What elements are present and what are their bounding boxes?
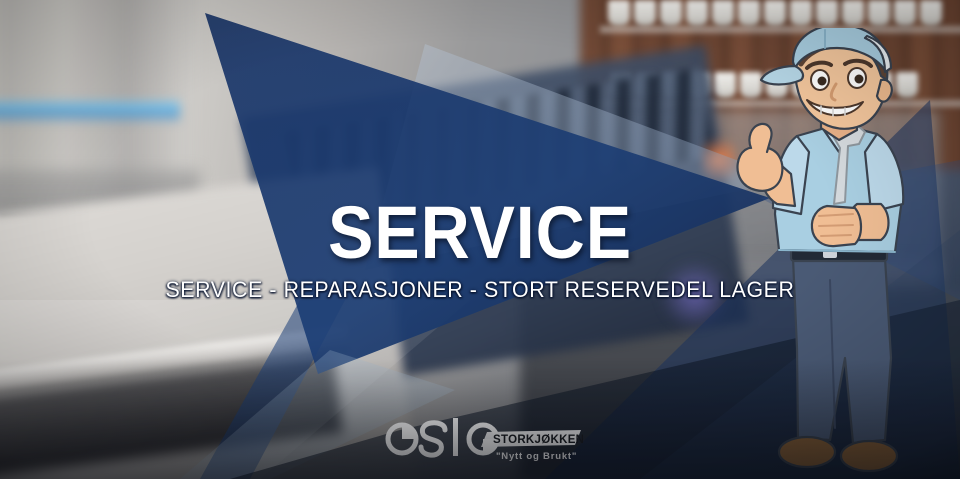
logo-tagline: "Nytt og Brukt" — [496, 451, 577, 462]
mascot-boot-left — [779, 437, 835, 467]
logo-company-name: STORKJØKKEN AS — [493, 434, 583, 446]
logo-letter-l — [453, 418, 458, 456]
logo-o-wedge-first — [402, 425, 416, 439]
mascot-cap-brim — [761, 66, 803, 85]
service-banner: SERVICE SERVICE - REPARASJONER - STORT R… — [0, 0, 960, 479]
company-logo[interactable]: STORKJØKKEN AS "Nytt og Brukt" — [383, 414, 583, 470]
mascot-boot-right — [841, 441, 897, 471]
logo-letter-s — [421, 423, 445, 455]
mascot-thumb — [749, 124, 771, 152]
mascot-thumbs-up-hand — [738, 147, 783, 191]
mascot-ear — [877, 80, 892, 102]
page-subtitle: SERVICE - REPARASJONER - STORT RESERVEDE… — [14, 278, 945, 302]
page-title: SERVICE — [38, 196, 921, 270]
